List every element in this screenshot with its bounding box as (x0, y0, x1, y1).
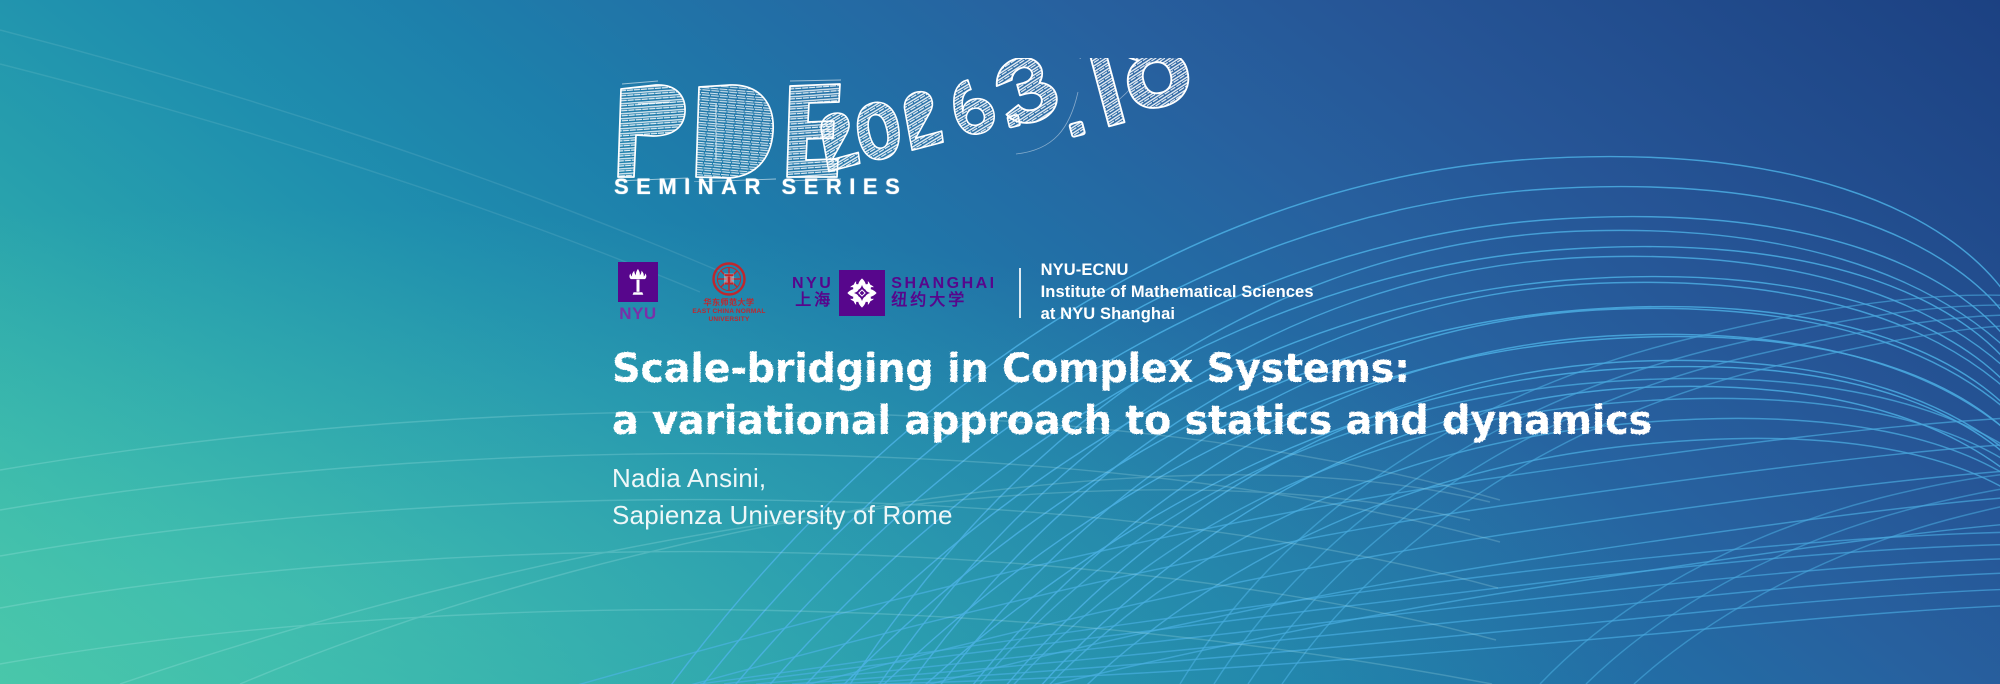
talk-title-line-1: Scale-bridging in Complex Systems: (612, 346, 1410, 392)
nyu-shanghai-right-en: SHANGHAI (891, 276, 996, 293)
logo-divider (1019, 268, 1021, 318)
talk-title: Scale-bridging in Complex Systems: a var… (612, 342, 1672, 454)
nyu-wordmark: NYU (619, 304, 656, 324)
seminar-poster: SEMINAR SERIES (0, 0, 2000, 684)
ecnu-logo: 华东师范大学 EAST CHINA NORMAL UNIVERSITY (690, 262, 768, 323)
ecnu-chinese-name: 华东师范大学 (704, 297, 755, 308)
institute-line-1: NYU-ECNU (1041, 260, 1314, 282)
nyu-shanghai-right-cn: 纽约大学 (891, 293, 967, 310)
magnolia-flower-icon (844, 275, 880, 311)
speaker-name: Nadia Ansini, (612, 460, 953, 497)
nyu-logo: NYU (612, 262, 664, 324)
ecnu-english-name-line2: UNIVERSITY (708, 316, 749, 323)
series-lockup: SEMINAR SERIES (612, 64, 1792, 212)
nyu-shanghai-logo: NYU 上海 (792, 270, 997, 316)
nyu-shanghai-left-cn: 上海 (795, 293, 833, 310)
institute-name: NYU-ECNU Institute of Mathematical Scien… (1041, 260, 1314, 325)
nyu-shanghai-left-en: NYU (792, 276, 833, 293)
seminar-date (810, 58, 1230, 188)
poster-content: SEMINAR SERIES (612, 64, 1792, 212)
speaker-affiliation: Sapienza University of Rome (612, 497, 953, 534)
ecnu-english-name-line1: EAST CHINA NORMAL (692, 308, 765, 315)
nyu-torch-badge (618, 262, 658, 302)
partner-logos: NYU 华东师范大学 (612, 260, 1314, 325)
nyu-shanghai-badge (839, 270, 885, 316)
ecnu-seal-icon (712, 262, 746, 296)
torch-icon (626, 268, 650, 296)
institute-line-2: Institute of Mathematical Sciences (1041, 282, 1314, 304)
pde-acronym (612, 78, 842, 182)
talk-title-line-2: a variational approach to statics and dy… (612, 398, 1652, 444)
institute-line-3: at NYU Shanghai (1041, 304, 1314, 326)
speaker-block: Nadia Ansini, Sapienza University of Rom… (612, 460, 953, 534)
